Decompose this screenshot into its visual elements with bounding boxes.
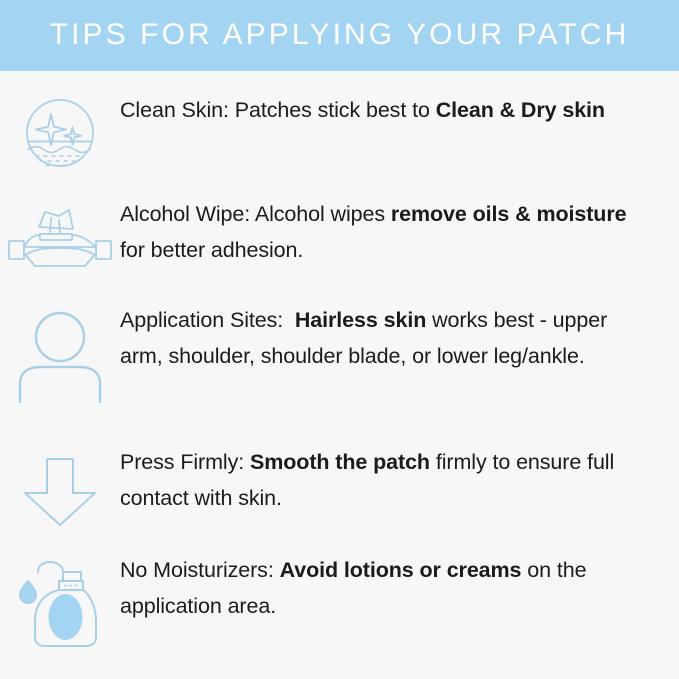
- lotion-bottle-icon: [0, 553, 120, 649]
- down-arrow-icon: [0, 445, 120, 527]
- tip-text: Alcohol Wipe: Alcohol wipes remove oils …: [120, 197, 679, 268]
- tip-body-before: Patches stick best to: [229, 98, 436, 122]
- list-item: No Moisturizers: Avoid lotions or creams…: [0, 553, 679, 649]
- tip-lead: Alcohol Wipe:: [120, 202, 250, 226]
- list-item: Application Sites: Hairless skin works b…: [0, 303, 679, 403]
- tip-lead: Clean Skin:: [120, 98, 229, 122]
- tip-text: Application Sites: Hairless skin works b…: [120, 303, 679, 374]
- tip-lead: No Moisturizers:: [120, 558, 274, 582]
- tip-text: Clean Skin: Patches stick best to Clean …: [120, 93, 679, 129]
- header-band: TIPS FOR APPLYING YOUR PATCH: [0, 0, 679, 71]
- tip-body-bold: remove oils & moisture: [391, 202, 627, 226]
- list-item: Alcohol Wipe: Alcohol wipes remove oils …: [0, 197, 679, 271]
- tip-body-bold: Hairless skin: [295, 308, 426, 332]
- tip-lead: Application Sites:: [120, 308, 283, 332]
- list-item: Press Firmly: Smooth the patch firmly to…: [0, 445, 679, 527]
- page-title: TIPS FOR APPLYING YOUR PATCH: [50, 20, 630, 52]
- list-item: Clean Skin: Patches stick best to Clean …: [0, 93, 679, 169]
- tip-body-before: [283, 308, 295, 332]
- tip-text: Press Firmly: Smooth the patch firmly to…: [120, 445, 679, 516]
- tip-body-bold: Avoid lotions or creams: [280, 558, 522, 582]
- tips-list: Clean Skin: Patches stick best to Clean …: [0, 71, 679, 679]
- tip-body-before: Alcohol wipes: [250, 202, 391, 226]
- sparkling-clean-skin-icon: [0, 93, 120, 169]
- tip-lead: Press Firmly:: [120, 450, 244, 474]
- tip-body-bold: Smooth the patch: [250, 450, 430, 474]
- tip-text: No Moisturizers: Avoid lotions or creams…: [120, 553, 679, 624]
- wipes-package-icon: [0, 197, 120, 271]
- person-icon: [0, 303, 120, 403]
- tip-body-bold: Clean & Dry skin: [436, 98, 605, 122]
- tips-infographic: TIPS FOR APPLYING YOUR PATCH: [0, 0, 679, 679]
